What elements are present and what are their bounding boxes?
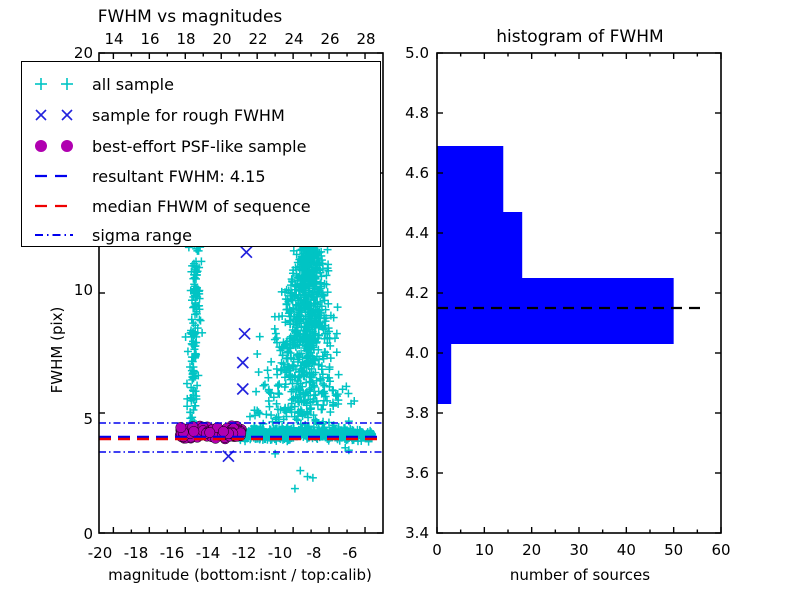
legend-item-rough-fwhm[interactable]: sample for rough FWHM [36,106,285,125]
xbot-tick: -14 [196,544,221,562]
histogram-bar [437,146,503,212]
y-tick: 4.6 [405,164,429,182]
legend-svg: all sample sample for rough FWHM best-ef… [22,62,379,245]
xtop-tick: 22 [248,30,267,48]
x-tick: 50 [664,541,683,559]
y-tick: 5.0 [405,44,429,62]
x-tick: 60 [711,541,730,559]
x-tick: 10 [475,541,494,559]
y-tick: 10 [74,281,93,299]
histogram-bars [437,146,674,404]
y-tick: 0 [83,525,93,543]
x-marker-icon [36,110,72,120]
legend-label: median FHWM of sequence [92,197,311,216]
xbot-tick: -8 [307,544,322,562]
xtop-tick: 28 [356,30,375,48]
legend-label: resultant FWHM: 4.15 [92,167,266,186]
legend-item-sigma-range[interactable]: sigma range [35,226,192,245]
right-x-axis-label: number of sources [510,566,650,584]
plus-marker-icon [35,78,73,90]
x-tick: 30 [569,541,588,559]
left-x-bottom-ticklabels: -20 -18 -16 -14 -12 -10 -8 -6 [88,544,358,562]
figure-canvas: FWHM vs magnitudes 14 16 18 20 22 24 26 … [0,0,800,600]
y-tick: 5 [83,410,93,428]
x-tick: 20 [522,541,541,559]
histogram-bar [437,212,522,278]
histogram-svg: histogram of FWHM 3.43.63.84.04.24.44.64… [400,0,800,600]
x-tick: 0 [432,541,442,559]
y-tick: 4.0 [405,344,429,362]
left-plot-title: FWHM vs magnitudes [98,7,283,27]
legend-label: best-effort PSF-like sample [92,137,306,156]
circle-marker-icon [35,140,73,152]
left-x-axis-label: magnitude (bottom:isnt / top:calib) [108,566,372,584]
y-tick: 3.8 [405,404,429,422]
xtop-tick: 14 [104,30,123,48]
histogram-bar [437,278,674,344]
right-panel-histogram: histogram of FWHM 3.43.63.84.04.24.44.64… [400,0,800,600]
y-tick: 4.4 [405,224,429,242]
psf-sample-points [175,421,246,444]
left-x-top-ticklabels: 14 16 18 20 22 24 26 28 [104,30,375,48]
right-x-ticklabels: 0102030405060 [432,541,730,559]
legend-item-psf-sample[interactable]: best-effort PSF-like sample [35,137,306,156]
xbot-tick: -6 [343,544,358,562]
legend-item-median-fwhm[interactable]: median FHWM of sequence [35,197,311,216]
legend-item-all-sample[interactable]: all sample [35,75,174,94]
left-panel-scatter: FWHM vs magnitudes 14 16 18 20 22 24 26 … [0,0,400,600]
right-y-ticklabels: 3.43.63.84.04.24.44.64.85.0 [405,44,429,542]
legend-box: all sample sample for rough FWHM best-ef… [21,61,381,247]
xtop-tick: 16 [140,30,159,48]
y-tick: 4.8 [405,104,429,122]
xbot-tick: -16 [160,544,185,562]
xbot-tick: -20 [88,544,113,562]
legend-item-resultant-fwhm[interactable]: resultant FWHM: 4.15 [35,167,266,186]
legend-label: sample for rough FWHM [92,106,285,125]
y-tick: 3.4 [405,524,429,542]
y-tick: 3.6 [405,464,429,482]
xtop-tick: 24 [284,30,303,48]
y-tick: 4.2 [405,284,429,302]
scatter-data-layer [99,227,383,493]
xbot-tick: -18 [124,544,149,562]
xtop-tick: 26 [320,30,339,48]
legend-label: sigma range [92,226,192,245]
x-tick: 40 [617,541,636,559]
left-y-axis-label: FWHM (pix) [48,307,66,394]
xtop-tick: 18 [176,30,195,48]
right-plot-title: histogram of FWHM [496,27,663,47]
xbot-tick: -10 [268,544,293,562]
xbot-tick: -12 [232,544,257,562]
xtop-tick: 20 [212,30,231,48]
legend-label: all sample [92,75,174,94]
y-tick: 20 [74,44,93,62]
